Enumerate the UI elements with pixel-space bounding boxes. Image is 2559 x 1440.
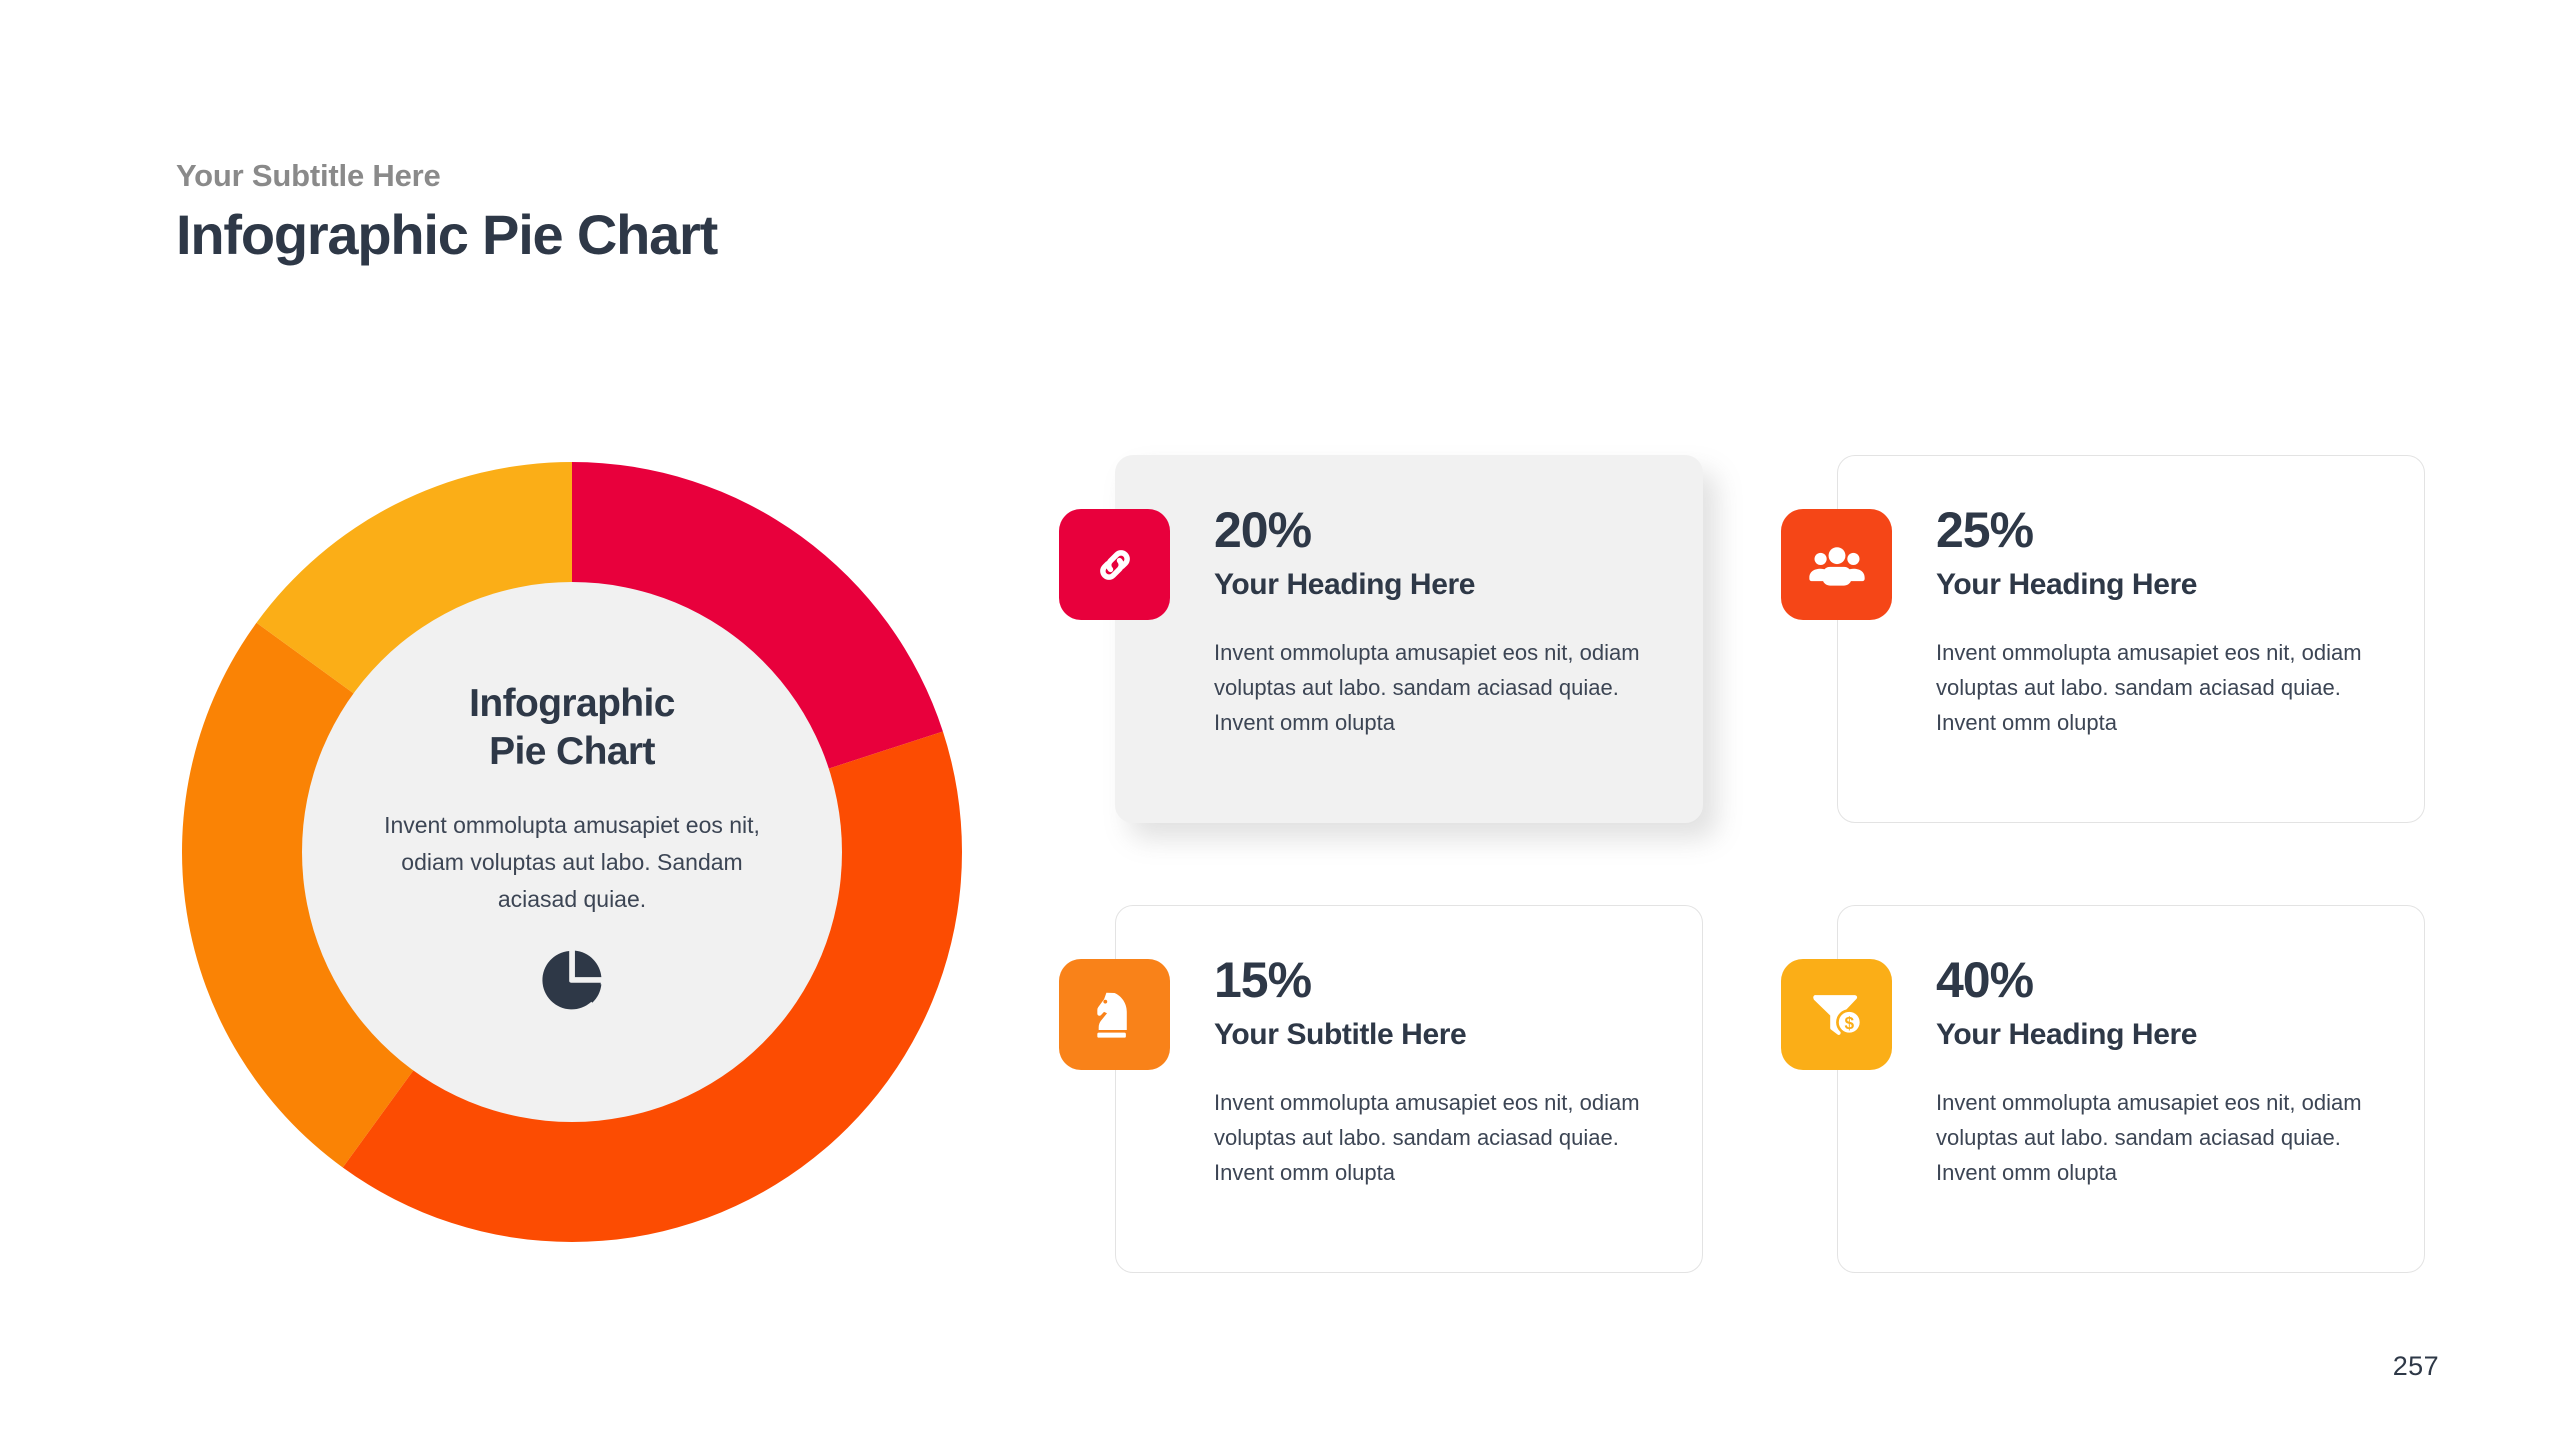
- stat-card-percent: 25%: [1936, 504, 2388, 557]
- link-icon: [1059, 509, 1170, 620]
- stat-card-content: 25% Your Heading Here Invent ommolupta a…: [1936, 504, 2388, 740]
- page-header: Your Subtitle Here Infographic Pie Chart: [176, 160, 717, 263]
- stat-cards-grid: 20% Your Heading Here Invent ommolupta a…: [1115, 455, 2425, 1273]
- stat-card-text: Invent ommolupta amusapiet eos nit, odia…: [1214, 636, 1666, 740]
- stat-card-percent: 20%: [1214, 504, 1666, 557]
- stat-card-content: 15% Your Subtitle Here Invent ommolupta …: [1214, 954, 1666, 1190]
- stat-card-percent: 40%: [1936, 954, 2388, 1007]
- stat-card-heading: Your Heading Here: [1936, 1017, 2388, 1053]
- donut-center-title-line2: Pie Chart: [489, 730, 655, 773]
- users-group-icon: [1781, 509, 1892, 620]
- page-subtitle: Your Subtitle Here: [176, 160, 717, 191]
- pie-chart-icon: [536, 944, 608, 1021]
- stat-card-4[interactable]: $ 40% Your Heading Here Invent ommolupta…: [1837, 905, 2425, 1273]
- svg-text:$: $: [1844, 1013, 1854, 1033]
- stat-card-content: 20% Your Heading Here Invent ommolupta a…: [1214, 504, 1666, 740]
- stat-card-2[interactable]: 25% Your Heading Here Invent ommolupta a…: [1837, 455, 2425, 823]
- page-number: 257: [2393, 1351, 2439, 1382]
- donut-chart: Infographic Pie Chart Invent ommolupta a…: [182, 462, 962, 1242]
- stat-card-3[interactable]: 15% Your Subtitle Here Invent ommolupta …: [1115, 905, 1703, 1273]
- stat-card-text: Invent ommolupta amusapiet eos nit, odia…: [1214, 1086, 1666, 1190]
- stat-card-heading: Your Heading Here: [1214, 567, 1666, 603]
- stat-card-1[interactable]: 20% Your Heading Here Invent ommolupta a…: [1115, 455, 1703, 823]
- stat-card-heading: Your Subtitle Here: [1214, 1017, 1666, 1053]
- stat-card-percent: 15%: [1214, 954, 1666, 1007]
- donut-center-panel: Infographic Pie Chart Invent ommolupta a…: [302, 582, 842, 1122]
- stat-card-heading: Your Heading Here: [1936, 567, 2388, 603]
- chess-knight-icon: [1059, 959, 1170, 1070]
- donut-center-description: Invent ommolupta amusapiet eos nit, odia…: [372, 807, 772, 919]
- stat-card-text: Invent ommolupta amusapiet eos nit, odia…: [1936, 1086, 2388, 1190]
- stat-card-text: Invent ommolupta amusapiet eos nit, odia…: [1936, 636, 2388, 740]
- page-title: Infographic Pie Chart: [176, 207, 717, 263]
- donut-center-title: Infographic Pie Chart: [469, 680, 675, 777]
- stat-card-content: 40% Your Heading Here Invent ommolupta a…: [1936, 954, 2388, 1190]
- donut-center-title-line1: Infographic: [469, 682, 675, 725]
- funnel-dollar-icon: $: [1781, 959, 1892, 1070]
